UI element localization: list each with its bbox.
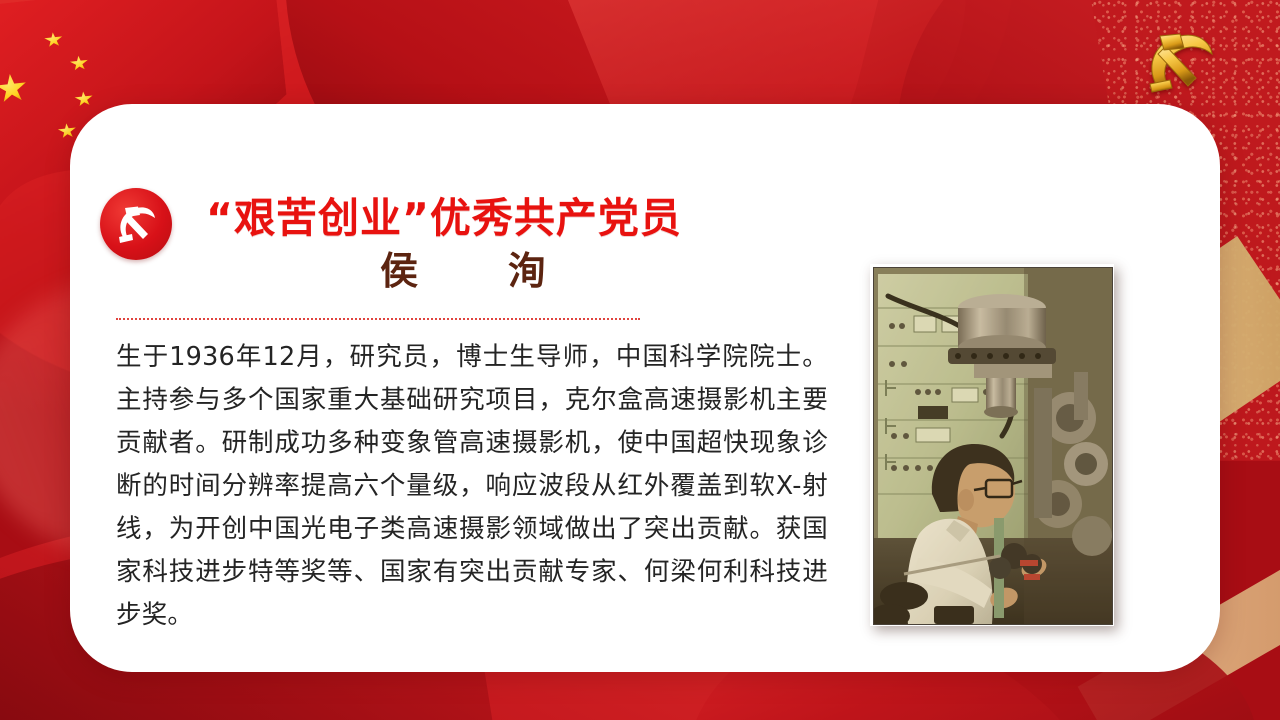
party-badge-icon bbox=[100, 188, 172, 260]
biography-paragraph: 生于1936年12月，研究员，博士生导师，中国科学院院士。主持参与多个国家重大基… bbox=[116, 336, 828, 637]
photo-frame bbox=[870, 264, 1114, 626]
person-name: 侯 洵 bbox=[380, 240, 572, 295]
page-title: “艰苦创业”优秀共产党员 bbox=[206, 184, 682, 244]
content-card: “艰苦创业”优秀共产党员 侯 洵 生于1936年12月，研究员，博士生导师，中国… bbox=[70, 104, 1220, 672]
hammer-and-sickle-icon bbox=[1136, 24, 1222, 100]
card-header: “艰苦创业”优秀共产党员 侯 洵 bbox=[100, 184, 700, 304]
biography-text: 生于1936年12月，研究员，博士生导师，中国科学院院士。主持参与多个国家重大基… bbox=[116, 336, 828, 637]
dotted-divider bbox=[116, 318, 640, 320]
portrait-photo bbox=[873, 267, 1113, 625]
slide-root: “艰苦创业”优秀共产党员 侯 洵 生于1936年12月，研究员，博士生导师，中国… bbox=[0, 0, 1280, 720]
